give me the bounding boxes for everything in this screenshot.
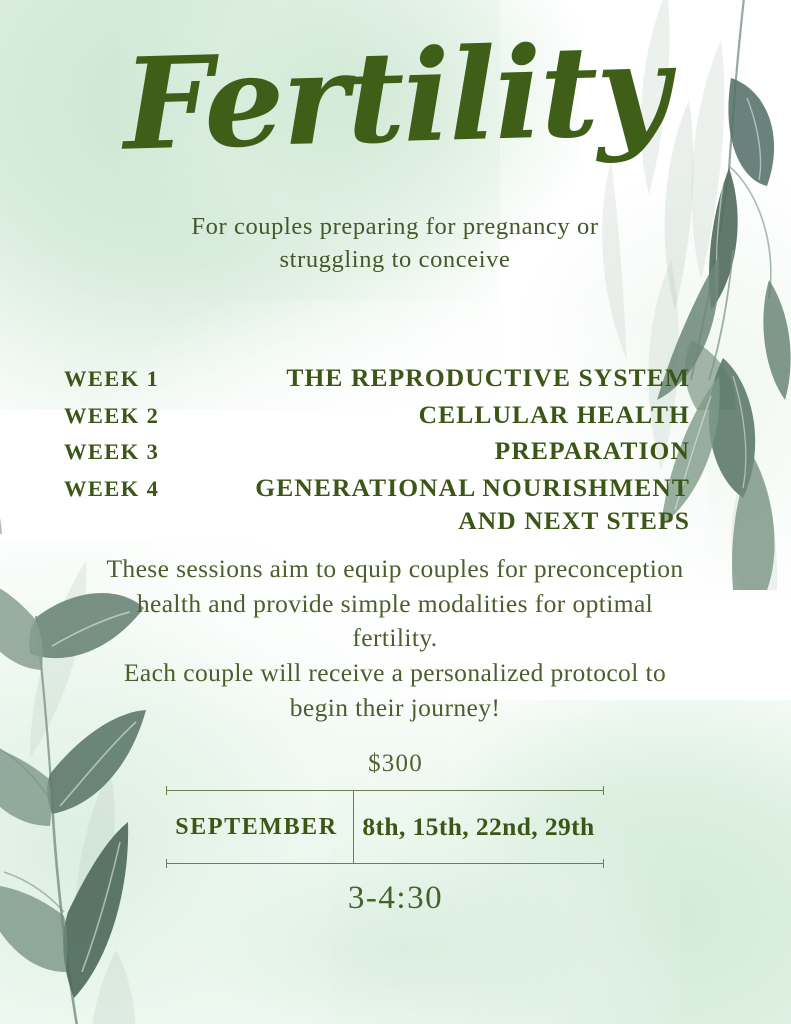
week-label: WEEK 4 — [64, 476, 159, 502]
weekly-schedule: WEEK 1 THE REPRODUCTIVE SYSTEM WEEK 2 CE… — [64, 362, 690, 541]
date-box: SEPTEMBER 8th, 15th, 22nd, 29th — [166, 790, 604, 864]
week-label: WEEK 1 — [64, 366, 159, 392]
schedule-row: WEEK 1 THE REPRODUCTIVE SYSTEM — [64, 362, 690, 395]
week-label: WEEK 2 — [64, 403, 159, 429]
price-text: $300 — [0, 750, 791, 778]
dates-label: 8th, 15th, 22nd, 29th — [353, 790, 604, 864]
description-text: These sessions aim to equip couples for … — [95, 552, 695, 725]
schedule-row: WEEK 3 PREPARATION — [64, 435, 690, 468]
week-topic: PREPARATION — [159, 435, 690, 468]
schedule-row: WEEK 2 CELLULAR HEALTH — [64, 399, 690, 432]
week-label: WEEK 3 — [64, 439, 159, 465]
week-topic: GENERATIONAL NOURISHMENT AND NEXT STEPS — [159, 472, 690, 537]
time-text: 3-4:30 — [0, 880, 791, 917]
date-box-bottom-rule — [166, 863, 604, 864]
schedule-row: WEEK 4 GENERATIONAL NOURISHMENT AND NEXT… — [64, 472, 690, 537]
month-label: SEPTEMBER — [166, 790, 353, 864]
week-topic: THE REPRODUCTIVE SYSTEM — [159, 362, 690, 395]
fertility-flyer: Fertility For couples preparing for preg… — [0, 0, 791, 1024]
subtitle: For couples preparing for pregnancy or s… — [180, 210, 610, 277]
week-topic: CELLULAR HEALTH — [159, 399, 690, 432]
page-title: Fertility — [0, 23, 791, 171]
